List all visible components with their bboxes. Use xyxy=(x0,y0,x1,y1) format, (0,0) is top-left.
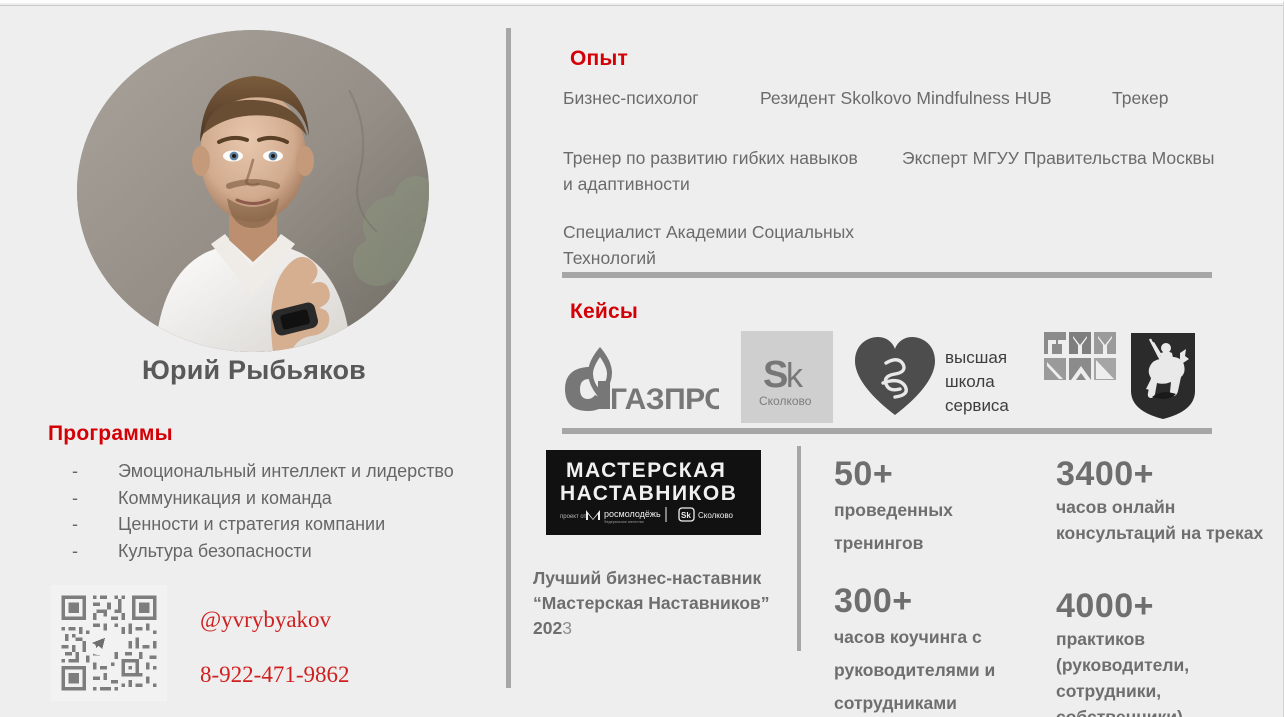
moscow-coat-of-arms-logo xyxy=(1128,331,1198,421)
experience-item: Специалист Академии Социальных Технологи… xyxy=(563,219,923,271)
list-item: - Ценности и стратегия компании xyxy=(72,511,512,538)
programs-heading: Программы xyxy=(48,422,173,446)
svg-text:МАСТЕРСКАЯ: МАСТЕРСКАЯ xyxy=(566,459,726,482)
stat-number: 3400+ xyxy=(1056,454,1276,494)
stat-label: проведенных тренингов xyxy=(834,494,1044,560)
list-item-label: Культура безопасности xyxy=(118,538,512,565)
list-item-label: Коммуникация и команда xyxy=(118,485,512,512)
mguu-logo-icon xyxy=(1043,331,1118,415)
bullet-dash: - xyxy=(72,485,118,512)
experience-item: Тренер по развитию гибких навыков и адап… xyxy=(563,145,863,197)
cases-heading: Кейсы xyxy=(570,300,638,324)
bullet-dash: - xyxy=(72,511,118,538)
list-item-label: Ценности и стратегия компании xyxy=(118,511,512,538)
stat-number: 50+ xyxy=(834,454,1044,494)
svg-text:Сколково: Сколково xyxy=(698,511,734,520)
gazprom-logo: ГАЗПРОМ xyxy=(554,337,719,417)
stat-item: 3400+ часов онлайн консультаций на трека… xyxy=(1056,454,1276,546)
svg-text:школа: школа xyxy=(945,372,995,391)
svg-text:Федеральное агентство: Федеральное агентство xyxy=(604,520,644,524)
qr-code-icon xyxy=(58,592,160,694)
list-item: - Культура безопасности xyxy=(72,538,512,565)
section-divider xyxy=(562,272,1212,278)
bullet-dash: - xyxy=(72,458,118,485)
stat-label: практиков (руководители, сотрудники, соб… xyxy=(1056,626,1276,717)
award-banner: МАСТЕРСКАЯ НАСТАВНИКОВ проект от росмоло… xyxy=(546,450,761,535)
profile-slide: Юрий Рыбьяков Программы - Эмоциональный … xyxy=(0,0,1284,717)
stat-number: 300+ xyxy=(834,581,1059,621)
stat-label: часов коучинга с руководителями и сотруд… xyxy=(834,621,1059,717)
svg-text:проект от: проект от xyxy=(560,514,587,520)
svg-text:S: S xyxy=(763,354,788,396)
experience-heading: Опыт xyxy=(570,47,628,71)
portrait-photo-icon xyxy=(77,30,429,352)
experience-row-1: Бизнес-психологРезидент Skolkovo Mindful… xyxy=(563,88,1263,109)
stat-label: часов онлайн консультаций на треках xyxy=(1056,494,1276,546)
phone-number[interactable]: 8-922-471-9862 xyxy=(200,662,349,688)
section-divider xyxy=(562,428,1212,434)
svg-text:k: k xyxy=(786,357,804,395)
svg-text:НАСТАВНИКОВ: НАСТАВНИКОВ xyxy=(560,482,737,505)
masterskaya-nastavnikov-logo-icon: МАСТЕРСКАЯ НАСТАВНИКОВ проект от росмоло… xyxy=(546,450,761,535)
heart-logo-icon: высшая школа сервиса xyxy=(853,335,1025,419)
telegram-handle[interactable]: @yvrybyakov xyxy=(200,607,331,633)
svg-text:ГАЗПРОМ: ГАЗПРОМ xyxy=(610,383,719,416)
stat-item: 4000+ практиков (руководители, сотрудник… xyxy=(1056,586,1276,717)
mguu-logo xyxy=(1043,331,1118,415)
page-title: Юрий Рыбьяков xyxy=(0,355,508,386)
bullet-dash: - xyxy=(72,538,118,565)
moscow-coat-of-arms-icon xyxy=(1128,331,1198,421)
stat-item: 50+ проведенных тренингов xyxy=(834,454,1044,560)
skolkovo-logo: S k Сколково xyxy=(741,331,833,423)
qr-code[interactable] xyxy=(51,585,167,701)
stat-item: 300+ часов коучинга с руководителями и с… xyxy=(834,581,1059,717)
list-item-label: Эмоциональный интеллект и лидерство xyxy=(118,458,512,485)
right-column: Опыт Бизнес-психологРезидент Skolkovo Mi… xyxy=(508,3,1284,717)
stat-number: 4000+ xyxy=(1056,586,1276,626)
svg-text:росмолодёжь: росмолодёжь xyxy=(604,509,661,519)
telegram-icon xyxy=(86,631,110,655)
list-item: - Коммуникация и команда xyxy=(72,485,512,512)
svg-text:сервиса: сервиса xyxy=(945,396,1009,415)
stats-vertical-divider xyxy=(797,446,801,651)
award-caption: Лучший бизнес-наставник “Мастерская Наст… xyxy=(533,566,783,641)
svg-text:Сколково: Сколково xyxy=(759,394,812,408)
avatar xyxy=(77,30,429,352)
gazprom-logo-icon: ГАЗПРОМ xyxy=(554,337,719,417)
experience-item: Бизнес-психолог xyxy=(563,88,760,109)
experience-item: Трекер xyxy=(1112,88,1169,109)
programs-list: - Эмоциональный интеллект и лидерство - … xyxy=(72,458,512,564)
svg-text:высшая: высшая xyxy=(945,348,1007,367)
experience-item: Резидент Skolkovo Mindfulness HUB xyxy=(760,88,1112,109)
experience-item: Эксперт МГУУ Правительства Москвы xyxy=(902,145,1232,171)
award-caption-year-tail: 3 xyxy=(562,618,572,638)
skolkovo-logo-icon: S k Сколково xyxy=(741,331,833,423)
list-item: - Эмоциональный интеллект и лидерство xyxy=(72,458,512,485)
svg-text:Sk: Sk xyxy=(681,511,691,520)
client-logos: ГАЗПРОМ S k Сколково xyxy=(548,331,1248,423)
vysshaya-shkola-servisa-logo: высшая школа сервиса xyxy=(853,335,1025,419)
left-column: Юрий Рыбьяков Программы - Эмоциональный … xyxy=(0,3,508,717)
